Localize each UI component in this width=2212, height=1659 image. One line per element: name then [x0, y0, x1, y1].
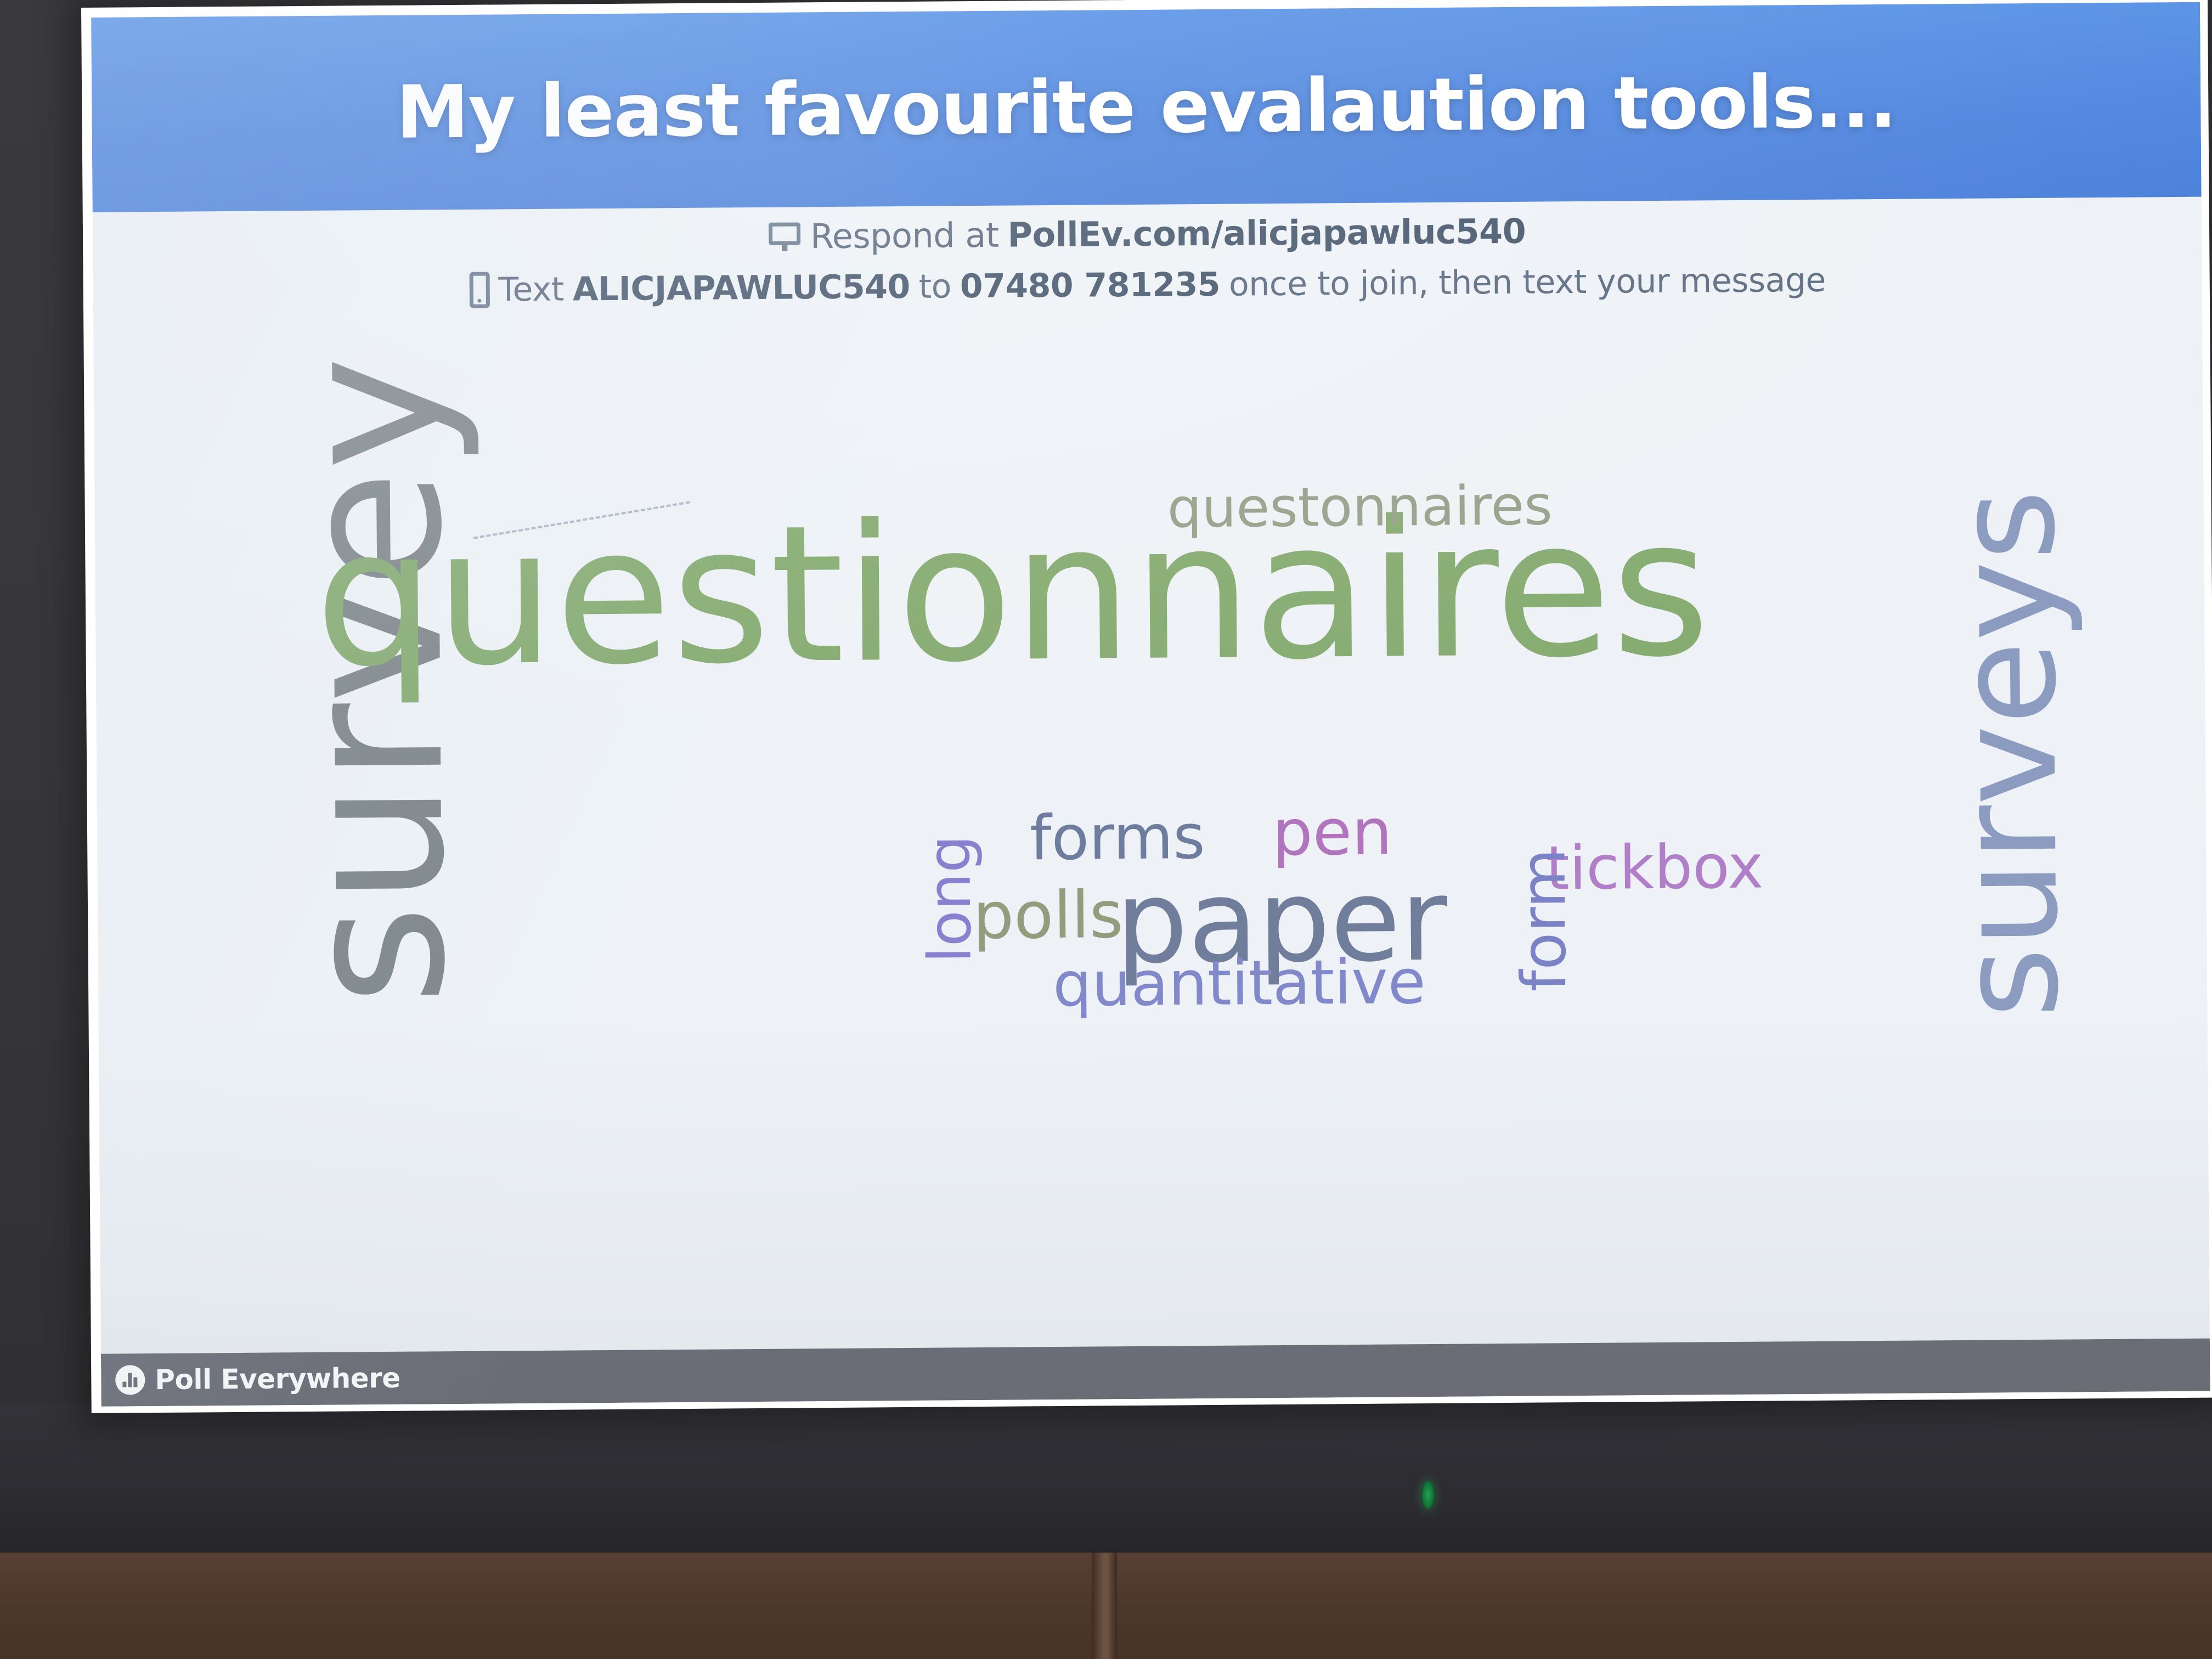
join-instructions: Respond at PollEv.com/alicjapawluc540 Te… — [93, 206, 2202, 312]
cloud-word-polls: polls — [973, 882, 1124, 948]
bar-chart-icon — [115, 1365, 145, 1395]
cloud-word-long: long — [920, 835, 980, 963]
slide-title-bar: My least favourite evalaution tools... — [91, 2, 2201, 212]
cloud-word-questonnaires: questonnaires — [1167, 478, 1553, 535]
cloud-word-surveys: surveys — [1938, 489, 2078, 1019]
word-cloud: survey surveys questionnaires questonnai… — [93, 309, 2209, 1329]
poll-keyword: ALICJAPAWLUC540 — [573, 268, 910, 309]
monitor-icon — [769, 222, 800, 251]
wall-seam — [1092, 1542, 1117, 1659]
cloud-word-form: form — [1513, 848, 1575, 992]
poll-everywhere-brand-label: Poll Everywhere — [155, 1362, 400, 1396]
slide-canvas: My least favourite evalaution tools... R… — [91, 2, 2210, 1407]
presentation-screen: My least favourite evalaution tools... R… — [81, 0, 2212, 1413]
text-suffix-label: once to join, then text your message — [1229, 261, 1826, 304]
respond-prefix-label: Respond at — [810, 215, 999, 257]
pollev-url[interactable]: PollEv.com/alicjapawluc540 — [1007, 211, 1526, 255]
cloud-word-quantitative: quantitative — [1053, 951, 1426, 1015]
text-prefix-label: Text — [498, 270, 564, 309]
text-instruction-line: Text ALICJAPAWLUC540 to 07480 781235 onc… — [93, 258, 2202, 312]
power-led-indicator — [1422, 1481, 1434, 1509]
monitor-bezel — [0, 1404, 2212, 1553]
text-middle-label: to — [918, 267, 951, 306]
phone-icon — [469, 272, 489, 308]
page-title: My least favourite evalaution tools... — [396, 59, 1897, 155]
respond-instruction-line: Respond at PollEv.com/alicjapawluc540 — [93, 206, 2202, 262]
poll-everywhere-footer: Poll Everywhere — [101, 1339, 2210, 1407]
poll-phone-number: 07480 781235 — [960, 266, 1221, 306]
